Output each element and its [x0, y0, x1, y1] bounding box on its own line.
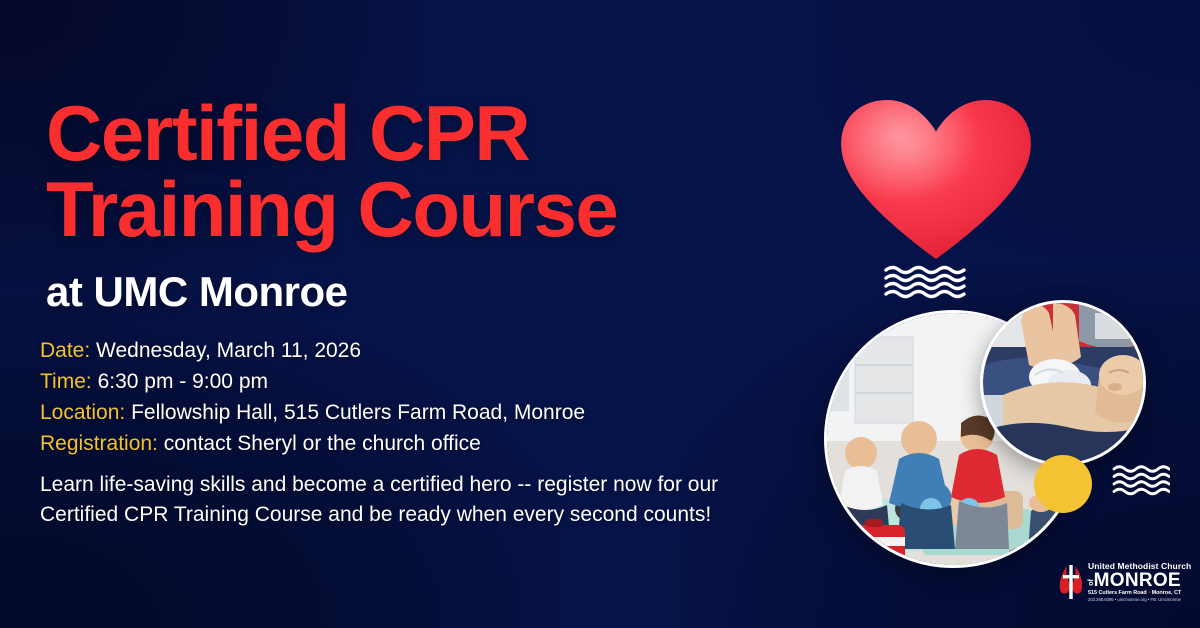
headline-line-2: Training Course [46, 172, 806, 248]
logo-address: 515 Cutlers Farm Road [1088, 590, 1147, 596]
detail-row-date: Date: Wednesday, March 11, 2026 [40, 336, 740, 367]
logo-wordmark: United Methodist Church of MONROE 515 Cu… [1088, 562, 1191, 602]
wave-lines-icon-top [884, 264, 968, 300]
logo-separator: • [1148, 590, 1150, 596]
cpr-compression-closeup-photo [980, 300, 1146, 466]
promo-line-2: Certified CPR Training Course and be rea… [40, 500, 840, 530]
detail-value-date: Wednesday, March 11, 2026 [96, 339, 361, 362]
event-details-list: Date: Wednesday, March 11, 2026 Time: 6:… [40, 336, 740, 459]
detail-label-time: Time: [40, 370, 92, 393]
umc-monroe-logo: United Methodist Church of MONROE 515 Cu… [1058, 556, 1194, 608]
accent-circle [1034, 455, 1092, 513]
subtitle-venue: at UMC Monroe [46, 268, 348, 316]
logo-name: MONROE [1094, 571, 1181, 590]
logo-contact-line: 203.268.9395 • umcmonroe.org • FB: Umcmo… [1088, 598, 1191, 602]
detail-label-location: Location: [40, 401, 125, 424]
logo-address-line: 515 Cutlers Farm Road • Monroe, CT [1088, 591, 1191, 596]
page-title: Certified CPR Training Course [46, 96, 806, 247]
promo-line-1: Learn life-saving skills and become a ce… [40, 470, 840, 500]
logo-city-state: Monroe, CT [1152, 590, 1182, 596]
detail-label-date: Date: [40, 339, 90, 362]
promo-paragraph: Learn life-saving skills and become a ce… [40, 470, 840, 530]
heart-icon [836, 96, 1036, 264]
detail-row-time: Time: 6:30 pm - 9:00 pm [40, 367, 740, 398]
detail-row-registration: Registration: contact Sheryl or the chur… [40, 429, 740, 460]
cpr-training-flyer: Certified CPR Training Course at UMC Mon… [0, 0, 1200, 628]
detail-value-location: Fellowship Hall, 515 Cutlers Farm Road, … [131, 401, 585, 424]
logo-name-row: of MONROE [1088, 571, 1191, 590]
detail-value-registration: contact Sheryl or the church office [164, 432, 481, 455]
logo-of-word: of [1088, 579, 1095, 586]
cross-and-flame-icon [1058, 562, 1084, 602]
wave-lines-icon-right [1112, 464, 1170, 498]
detail-label-registration: Registration: [40, 432, 158, 455]
detail-row-location: Location: Fellowship Hall, 515 Cutlers F… [40, 398, 740, 429]
headline-line-1: Certified CPR [46, 89, 529, 177]
detail-value-time: 6:30 pm - 9:00 pm [98, 370, 268, 393]
